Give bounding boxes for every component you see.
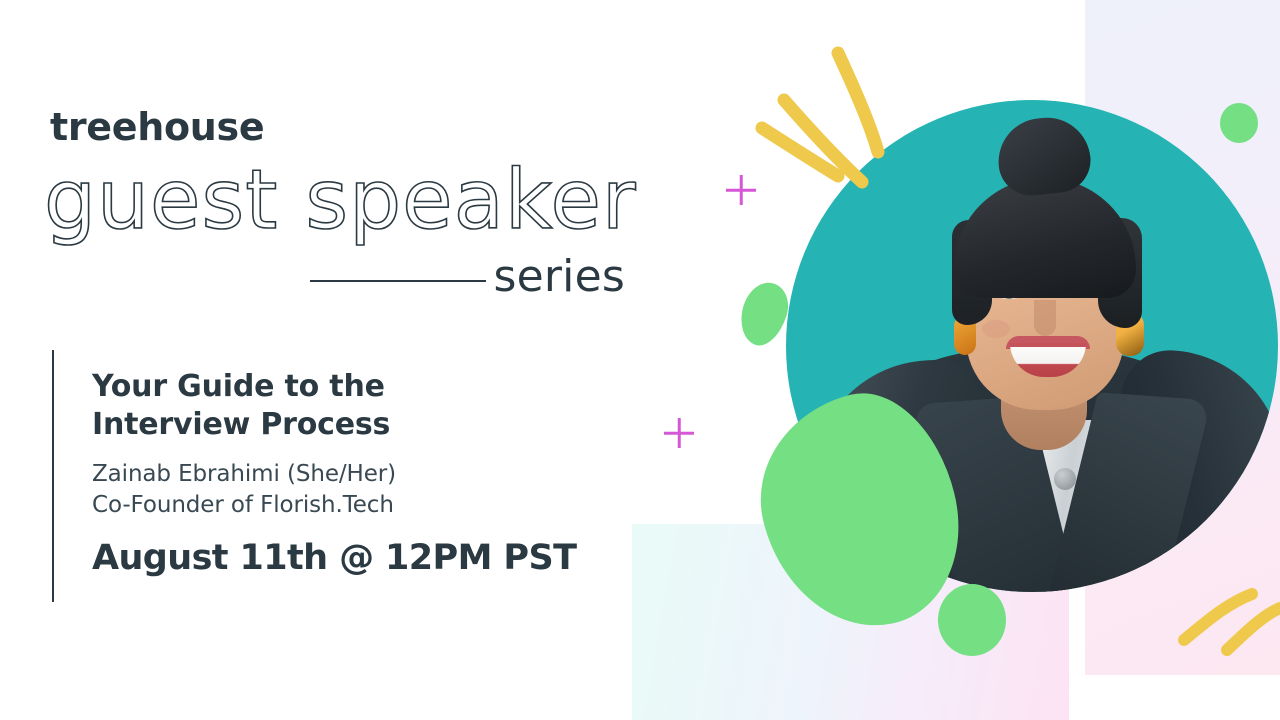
talk-details: Your Guide to the Interview Process Zain…	[92, 368, 612, 578]
magenta-plus-icon-lower	[664, 418, 694, 448]
promo-slide: treehouse guest speaker series Your Guid…	[0, 0, 1280, 720]
speaker-name: Zainab Ebrahimi (She/Her)	[92, 459, 612, 490]
green-circle-bottom	[938, 584, 1006, 656]
green-circle-topright	[1220, 103, 1258, 143]
talk-title-line-2: Interview Process	[92, 406, 612, 444]
speaker-role: Co-Founder of Florish.Tech	[92, 490, 612, 521]
vertical-accent-rule	[52, 350, 54, 602]
series-label: series	[493, 251, 625, 302]
brand-name: treehouse	[50, 105, 264, 149]
event-date: August 11th @ 12PM PST	[92, 538, 612, 578]
nose	[1034, 300, 1056, 336]
hair-top	[954, 178, 1136, 298]
series-row: series	[310, 255, 625, 307]
headline-outline: guest speaker	[44, 160, 637, 242]
plus-bar-vertical	[678, 418, 681, 448]
jacket-stud	[1054, 468, 1076, 490]
cheek-highlight	[982, 320, 1010, 338]
plus-bar-vertical	[740, 175, 743, 205]
series-divider-rule	[310, 280, 486, 282]
talk-title-line-1: Your Guide to the	[92, 368, 612, 406]
magenta-plus-icon-upper	[726, 175, 756, 205]
